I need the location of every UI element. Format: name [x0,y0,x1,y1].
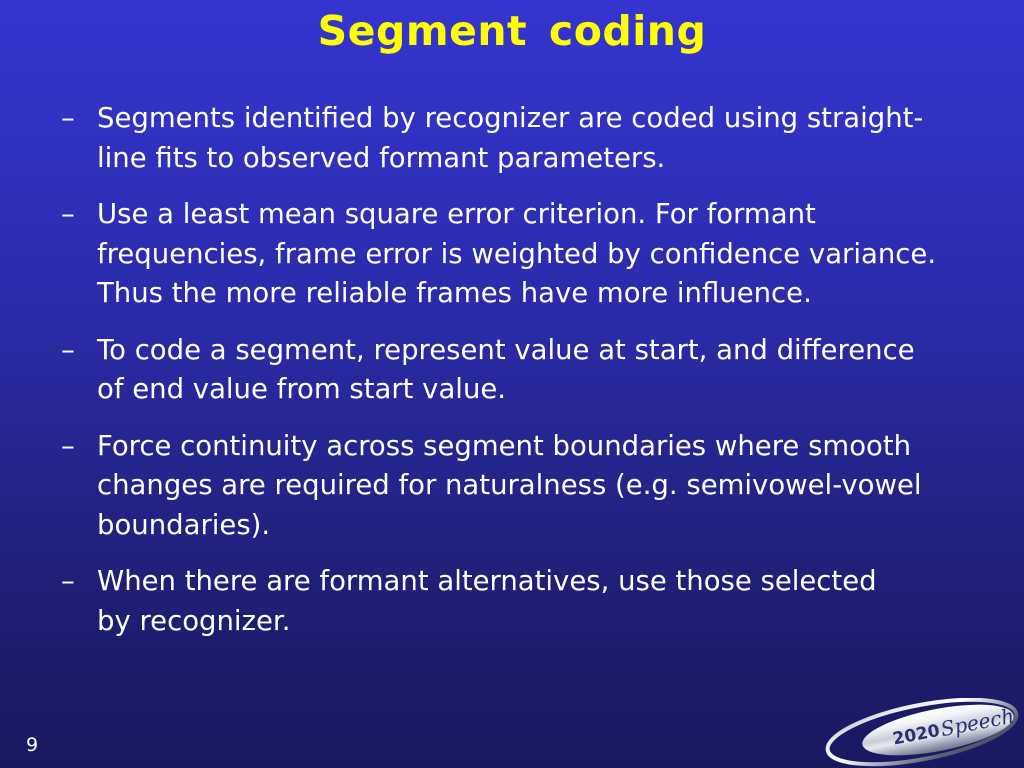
bullet-dash-icon: – [61,562,89,602]
bullet-dash-icon: – [61,195,89,235]
title-area: Segment coding [0,4,1024,58]
bullet-dash-icon: – [61,331,89,371]
list-item: – Use a least mean square error criterio… [58,195,988,314]
bullet-dash-icon: – [61,99,89,139]
list-item: – Force continuity across segment bounda… [58,427,988,546]
page-number: 9 [26,734,38,756]
list-item-text: To code a segment, represent value at st… [97,331,917,410]
list-item: – When there are formant alternatives, u… [58,562,988,641]
list-item-text: Use a least mean square error criterion.… [97,195,988,314]
list-item-text: When there are formant alternatives, use… [97,562,912,641]
bullet-dash-icon: – [61,427,89,467]
page-title: Segment coding [318,4,707,58]
list-item-text: Segments identified by recognizer are co… [97,99,952,178]
list-item: – Segments identified by recognizer are … [58,99,988,178]
list-item: – To code a segment, represent value at … [58,331,988,410]
presentation-slide: Segment coding – Segments identified by … [0,0,1024,768]
bullet-list: – Segments identified by recognizer are … [58,99,988,658]
logo-2020-speech: 2020 Speech [820,698,1024,768]
list-item-text: Force continuity across segment boundari… [97,427,952,546]
